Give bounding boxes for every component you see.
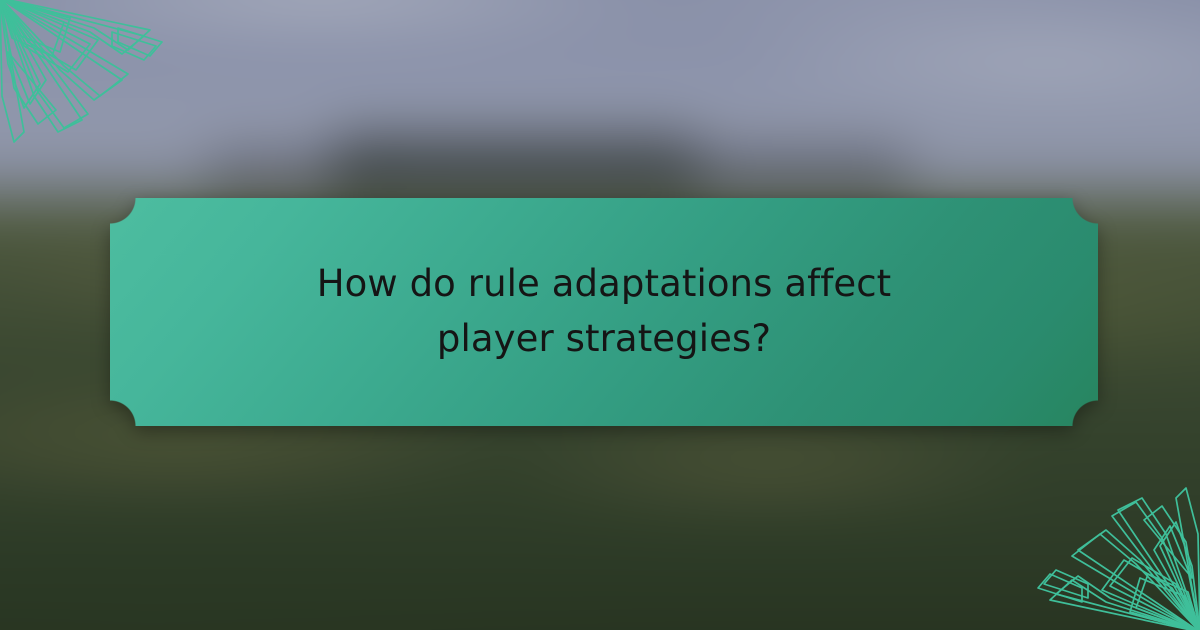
field-patch xyxy=(488,410,1048,521)
headline-card: How do rule adaptations affect player st… xyxy=(110,198,1098,426)
cloud-shape xyxy=(740,13,1200,108)
field-patch xyxy=(0,538,740,630)
slide-canvas: How do rule adaptations affect player st… xyxy=(0,0,1200,630)
headline-text: How do rule adaptations affect player st… xyxy=(254,257,954,367)
